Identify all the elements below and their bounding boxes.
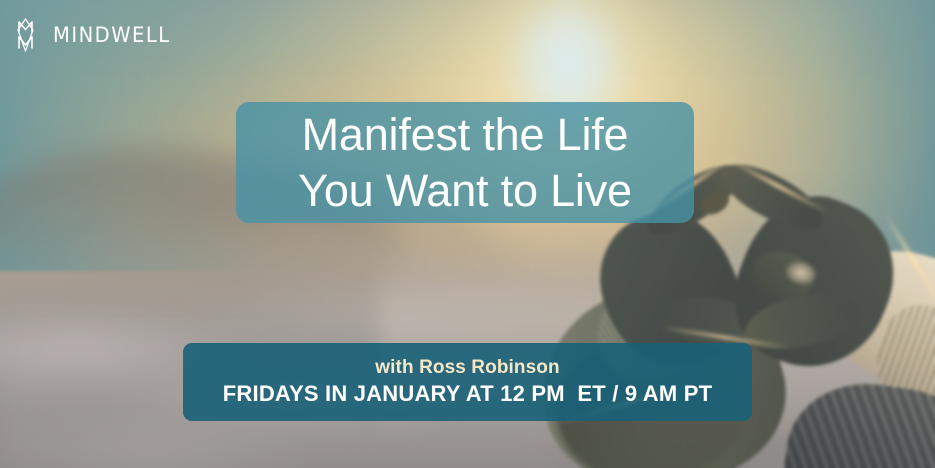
schedule-text: FRIDAYS IN JANUARY AT 12 PM ET / 9 AM PT — [223, 381, 712, 407]
title-line-2: You Want to Live — [298, 163, 632, 219]
presenter-name: with Ross Robinson — [375, 357, 559, 379]
mindwell-diamond-mark-icon — [16, 18, 44, 52]
brand-logo[interactable]: MINDWELL — [16, 18, 179, 52]
promo-banner: MINDWELL Manifest the Life You Want to L… — [0, 0, 935, 468]
brand-name: MINDWELL — [53, 23, 171, 47]
title-panel: Manifest the Life You Want to Live — [236, 102, 694, 223]
title-line-1: Manifest the Life — [302, 107, 629, 163]
details-panel: with Ross Robinson FRIDAYS IN JANUARY AT… — [183, 343, 752, 421]
